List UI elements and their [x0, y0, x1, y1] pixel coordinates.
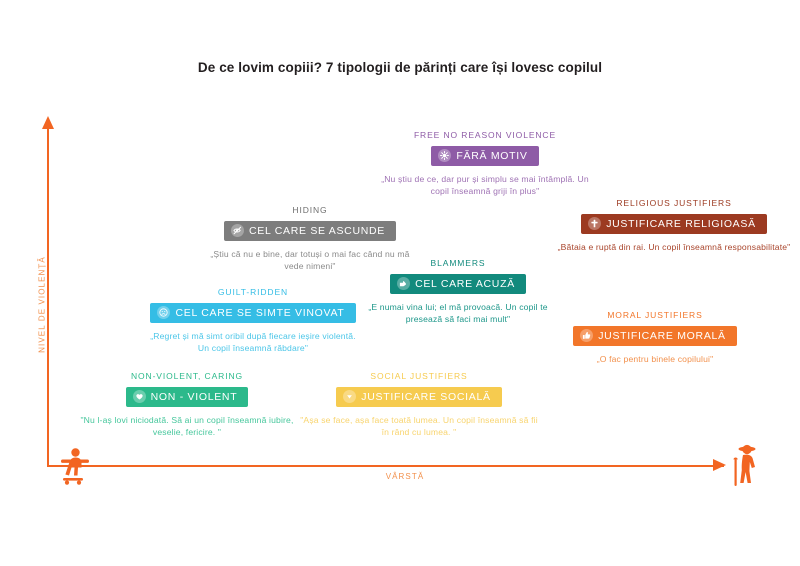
typology-eyebrow: GUILT-RIDDEN — [145, 287, 361, 297]
typology-eyebrow: SOCIAL JUSTIFIERS — [300, 371, 538, 381]
x-axis-arrow-icon — [713, 459, 726, 471]
typology-eyebrow: RELIGIOUS JUSTIFIERS — [554, 198, 794, 208]
x-axis-line — [47, 465, 724, 467]
typology-badge-cel-care-se-simte-vinovat[interactable]: CEL CARE SE SIMTE VINOVAT — [150, 303, 355, 323]
typology-badge-label: CEL CARE SE ASCUNDE — [249, 225, 385, 237]
heart-icon — [133, 390, 146, 403]
typology-badge-fara-motiv[interactable]: FĂRĂ MOTIV — [431, 146, 538, 166]
typology-badge-cel-care-se-ascunde[interactable]: CEL CARE SE ASCUNDE — [224, 221, 396, 241]
typology-badge-label: FĂRĂ MOTIV — [456, 150, 527, 162]
eye-slash-icon — [231, 224, 244, 237]
typology-badge-label: NON - VIOLENT — [151, 391, 238, 403]
typology-badge-justificare-religioasa[interactable]: JUSTIFICARE RELIGIOASĂ — [581, 214, 767, 234]
typology-block-moral-justifiers[interactable]: MORAL JUSTIFIERS JUSTIFICARE MORALĂ „O f… — [560, 310, 750, 365]
cross-icon — [588, 217, 601, 230]
y-axis-arrow-icon — [42, 116, 54, 129]
typology-quote: „Regret și mă simt oribil după fiecare i… — [145, 330, 361, 355]
typology-eyebrow: BLAMMERS — [353, 258, 563, 268]
typology-quote: „E numai vina lui; el mă provoacă. Un co… — [353, 301, 563, 326]
sad-face-icon — [157, 306, 170, 319]
typology-eyebrow: HIDING — [205, 205, 415, 215]
chevron-down-circle-icon — [343, 390, 356, 403]
typology-quote: „Nu știu de ce, dar pur și simplu se mai… — [371, 173, 599, 198]
elderly-person-with-cane-icon — [730, 444, 762, 493]
typology-eyebrow: NON-VIOLENT, CARING — [68, 371, 306, 381]
typology-quote: "Nu l-aș lovi niciodată. Să ai un copil … — [68, 414, 306, 439]
typology-badge-label: CEL CARE ACUZĂ — [415, 278, 515, 290]
typology-block-guilt-ridden[interactable]: GUILT-RIDDEN CEL CARE SE SIMTE VINOVAT „… — [145, 287, 361, 355]
typology-badge-cel-care-acuza[interactable]: CEL CARE ACUZĂ — [390, 274, 526, 294]
typology-eyebrow: FREE NO REASON VIOLENCE — [371, 130, 599, 140]
thumbs-up-icon — [580, 329, 593, 342]
typology-eyebrow: MORAL JUSTIFIERS — [560, 310, 750, 320]
page-title: De ce lovim copiii? 7 tipologii de părin… — [0, 60, 800, 75]
asterisk-burst-icon — [438, 149, 451, 162]
typology-badge-label: JUSTIFICARE SOCIALĂ — [361, 391, 490, 403]
child-skateboarder-icon — [58, 447, 92, 490]
typology-block-religious-justifiers[interactable]: RELIGIOUS JUSTIFIERS JUSTIFICARE RELIGIO… — [554, 198, 794, 253]
infographic-canvas: De ce lovim copiii? 7 tipologii de părin… — [0, 0, 800, 566]
typology-block-non-violent-caring[interactable]: NON-VIOLENT, CARING NON - VIOLENT "Nu l-… — [68, 371, 306, 439]
typology-quote: "Așa se face, așa face toată lumea. Un c… — [300, 414, 538, 439]
typology-quote: „Bătaia e ruptă din rai. Un copil înseam… — [554, 241, 794, 253]
typology-badge-justificare-sociala[interactable]: JUSTIFICARE SOCIALĂ — [336, 387, 501, 407]
typology-badge-non-violent[interactable]: NON - VIOLENT — [126, 387, 249, 407]
typology-badge-label: CEL CARE SE SIMTE VINOVAT — [175, 307, 344, 319]
typology-block-free-no-reason[interactable]: FREE NO REASON VIOLENCE FĂRĂ MOTIV „Nu ș… — [371, 130, 599, 198]
y-axis-line — [47, 128, 49, 466]
typology-block-social-justifiers[interactable]: SOCIAL JUSTIFIERS JUSTIFICARE SOCIALĂ "A… — [300, 371, 538, 439]
typology-block-blammers[interactable]: BLAMMERS CEL CARE ACUZĂ „E numai vina lu… — [353, 258, 563, 326]
typology-badge-label: JUSTIFICARE RELIGIOASĂ — [606, 218, 756, 230]
pointing-hand-icon — [397, 277, 410, 290]
typology-badge-label: JUSTIFICARE MORALĂ — [598, 330, 726, 342]
typology-quote: „O fac pentru binele copilului" — [560, 353, 750, 365]
y-axis-label: NIVEL DE VIOLENȚĂ — [38, 250, 47, 360]
typology-badge-justificare-morala[interactable]: JUSTIFICARE MORALĂ — [573, 326, 737, 346]
x-axis-label: VÂRSTĂ — [355, 472, 455, 481]
